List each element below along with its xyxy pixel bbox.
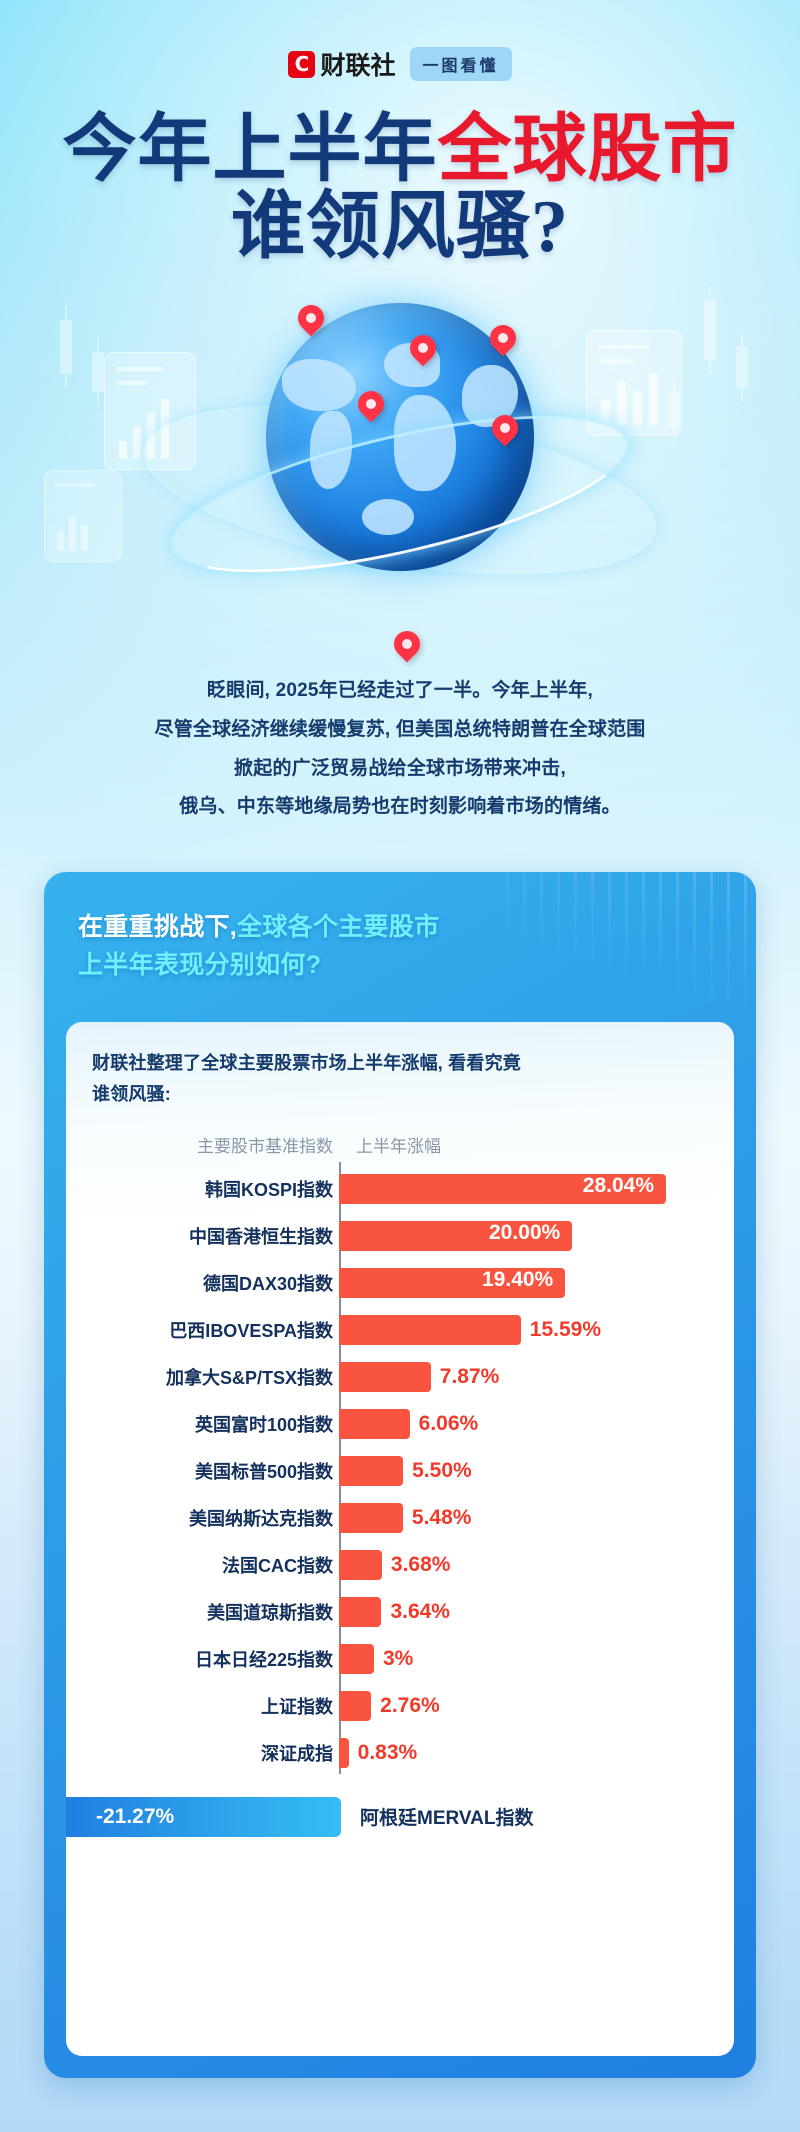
chart-row: 美国道琼斯指数3.64% (92, 1589, 708, 1636)
chart-row-track: 20.00% (339, 1213, 708, 1260)
chart-row-label: 日本日经225指数 (92, 1646, 333, 1672)
page-title: 今年上半年全球股市 谁领风骚? (0, 112, 800, 266)
chart-bar (339, 1691, 371, 1721)
chart-bar-value: 5.48% (412, 1506, 472, 1530)
lead-line-1: 财联社整理了全球主要股票市场上半年涨幅, 看看究竟 (92, 1048, 708, 1079)
bar-chart: 主要股市基准指数 上半年涨幅 韩国KOSPI指数28.04%中国香港恒生指数20… (92, 1132, 708, 1845)
chart-bar: 20.00% (339, 1221, 572, 1251)
chart-row-track: 7.87% (339, 1354, 708, 1401)
globe-illustration (0, 285, 800, 615)
chart-row: 巴西IBOVESPA指数15.59% (92, 1307, 708, 1354)
chart-row: 深证成指0.83% (92, 1730, 708, 1777)
chart-bar: 28.04% (339, 1174, 666, 1204)
cls-logo: C 财联社 (288, 46, 395, 82)
negative-bar-value: -21.27% (66, 1805, 174, 1829)
chart-row-label: 巴西IBOVESPA指数 (92, 1317, 333, 1343)
chart-row: 日本日经225指数3% (92, 1636, 708, 1683)
chart-lead-text: 财联社整理了全球主要股票市场上半年涨幅, 看看究竟 谁领风骚: (92, 1048, 708, 1110)
negative-bar-label: 阿根廷MERVAL指数 (360, 1803, 533, 1830)
chart-bar: 19.40% (339, 1268, 565, 1298)
map-pin-icon (492, 415, 518, 449)
chart-row-label: 中国香港恒生指数 (92, 1223, 333, 1249)
intro-line: 掀起的广泛贸易战给全球市场带来冲击, (0, 750, 800, 789)
chart-bar (339, 1503, 403, 1533)
chart-bar-value: 15.59% (530, 1318, 601, 1342)
headline-cyan-1: 全球各个主要股市 (237, 913, 439, 941)
chart-row-track: 5.50% (339, 1448, 708, 1495)
chart-row-track: 2.76% (339, 1683, 708, 1730)
chart-bar-value: 19.40% (482, 1268, 553, 1292)
infographic-page: C 财联社 一图看懂 今年上半年全球股市 谁领风骚? 眨眼间, 2025年已经 (0, 0, 800, 2132)
map-pin-icon (394, 631, 420, 665)
negative-bar-row: -21.27% 阿根廷MERVAL指数 (92, 1789, 708, 1845)
chart-bar (339, 1409, 410, 1439)
chart-row: 美国纳斯达克指数5.48% (92, 1495, 708, 1542)
chart-bar (339, 1644, 374, 1674)
chart-bar-value: 28.04% (583, 1174, 654, 1198)
title-line1-blue: 今年上半年 (63, 109, 438, 191)
negative-bar: -21.27% (66, 1797, 341, 1837)
intro-line: 眨眼间, 2025年已经走过了一半。今年上半年, (0, 672, 800, 711)
chart-row-label: 法国CAC指数 (92, 1552, 333, 1578)
chart-bar-value: 3% (383, 1647, 413, 1671)
headline-white: 在重重挑战下, (78, 913, 237, 941)
chart-row-track: 3.68% (339, 1542, 708, 1589)
chart-row-track: 0.83% (339, 1730, 708, 1777)
chart-row-track: 5.48% (339, 1495, 708, 1542)
intro-line: 尽管全球经济继续缓慢复苏, 但美国总统特朗普在全球范围 (0, 711, 800, 750)
chart-row-track: 19.40% (339, 1260, 708, 1307)
chart-bar-value: 0.83% (358, 1741, 418, 1765)
chart-row-label: 英国富时100指数 (92, 1411, 333, 1437)
headline-cyan-2: 上半年表现分别如何? (78, 946, 722, 984)
chart-row-label: 韩国KOSPI指数 (92, 1176, 333, 1202)
brand-bar: C 财联社 一图看懂 (0, 46, 800, 82)
map-pin-icon (358, 391, 384, 425)
chart-bar-value: 3.68% (391, 1553, 451, 1577)
chart-row: 上证指数2.76% (92, 1683, 708, 1730)
chart-bar (339, 1362, 431, 1392)
chart-bar-value: 20.00% (489, 1221, 560, 1245)
chart-bar (339, 1315, 521, 1345)
chart-row: 韩国KOSPI指数28.04% (92, 1166, 708, 1213)
chart-row-track: 28.04% (339, 1166, 708, 1213)
title-line2: 谁领风骚? (0, 189, 800, 266)
column-header-change: 上半年涨幅 (356, 1132, 441, 1157)
chart-row-label: 加拿大S&P/TSX指数 (92, 1364, 333, 1390)
chart-row: 美国标普500指数5.50% (92, 1448, 708, 1495)
chart-row-label: 美国道琼斯指数 (92, 1599, 333, 1625)
chart-bar-value: 6.06% (419, 1412, 479, 1436)
chart-bar-value: 7.87% (440, 1365, 500, 1389)
card-headline: 在重重挑战下,全球各个主要股市 上半年表现分别如何? (44, 872, 756, 984)
lead-line-2: 谁领风骚: (92, 1079, 708, 1110)
intro-paragraph: 眨眼间, 2025年已经走过了一半。今年上半年, 尽管全球经济继续缓慢复苏, 但… (0, 672, 800, 827)
map-pin-icon (410, 335, 436, 369)
chart-row: 法国CAC指数3.68% (92, 1542, 708, 1589)
map-pin-icon (298, 305, 324, 339)
chart-bar (339, 1738, 349, 1768)
chart-row: 德国DAX30指数19.40% (92, 1260, 708, 1307)
chart-row-track: 3% (339, 1636, 708, 1683)
chart-bar (339, 1550, 382, 1580)
chart-row-label: 美国标普500指数 (92, 1458, 333, 1484)
chart-row: 英国富时100指数6.06% (92, 1401, 708, 1448)
logo-text: 财联社 (320, 46, 395, 82)
chart-row-label: 美国纳斯达克指数 (92, 1505, 333, 1531)
chart-bar (339, 1597, 381, 1627)
chart-row-track: 3.64% (339, 1589, 708, 1636)
map-pin-icon (490, 325, 516, 359)
chart-bar (339, 1456, 403, 1486)
chart-row-label: 深证成指 (92, 1740, 333, 1766)
title-line1-red: 全球股市 (438, 109, 738, 191)
chart-row-label: 上证指数 (92, 1693, 333, 1719)
column-header-index: 主要股市基准指数 (197, 1132, 333, 1157)
chart-row-track: 6.06% (339, 1401, 708, 1448)
chart-row-track: 15.59% (339, 1307, 708, 1354)
intro-line: 俄乌、中东等地缘局势也在时刻影响着市场的情绪。 (0, 788, 800, 827)
chart-row: 中国香港恒生指数20.00% (92, 1213, 708, 1260)
chart-panel: 财联社整理了全球主要股票市场上半年涨幅, 看看究竟 谁领风骚: 主要股市基准指数… (66, 1022, 734, 2056)
chart-card: 在重重挑战下,全球各个主要股市 上半年表现分别如何? 财联社整理了全球主要股票市… (44, 872, 756, 2078)
chart-row-label: 德国DAX30指数 (92, 1270, 333, 1296)
bar-rows: 韩国KOSPI指数28.04%中国香港恒生指数20.00%德国DAX30指数19… (92, 1166, 708, 1777)
chart-bar-value: 3.64% (390, 1600, 450, 1624)
chart-bar-value: 2.76% (380, 1694, 440, 1718)
chart-bar-value: 5.50% (412, 1459, 472, 1483)
logo-mark-icon: C (288, 51, 315, 78)
one-chart-badge: 一图看懂 (410, 47, 512, 81)
chart-row: 加拿大S&P/TSX指数7.87% (92, 1354, 708, 1401)
chart-column-headers: 主要股市基准指数 上半年涨幅 (92, 1132, 708, 1166)
